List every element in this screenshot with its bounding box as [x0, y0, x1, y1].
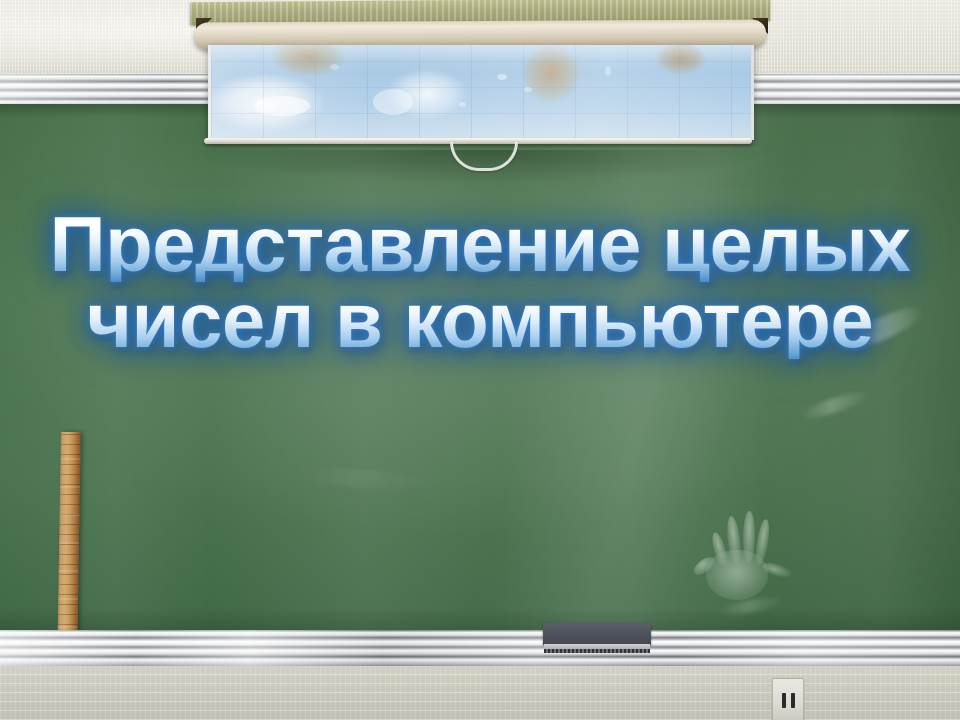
board-sheen	[0, 104, 960, 634]
pull-down-map[interactable]	[190, 0, 770, 170]
outlet-slot	[791, 693, 795, 708]
wooden-meter-stick[interactable]	[57, 432, 80, 654]
title-line-1: Представление целых	[0, 206, 960, 282]
slide-title: Представление целых чисел в компьютере	[0, 206, 960, 359]
map-island	[497, 74, 507, 80]
chalkboard	[0, 104, 960, 634]
eraser-body	[543, 623, 651, 645]
map-landmass	[373, 89, 413, 115]
map-island	[330, 64, 339, 70]
power-outlet-icon[interactable]	[772, 678, 804, 720]
map-landmass	[254, 96, 310, 116]
slide-canvas: Представление целых чисел в компьютере	[0, 0, 960, 720]
title-line-2: чисел в компьютере	[0, 282, 960, 358]
outlet-slot	[782, 693, 786, 708]
map-island	[605, 66, 611, 76]
map-pull-handle[interactable]	[450, 142, 518, 171]
eraser-felt	[544, 644, 650, 653]
blackboard-eraser[interactable]	[543, 623, 651, 654]
map-island	[524, 87, 532, 92]
chalk-tray	[0, 630, 960, 668]
map-sheet	[208, 45, 754, 140]
lower-wall	[0, 666, 960, 720]
map-island	[459, 102, 466, 107]
